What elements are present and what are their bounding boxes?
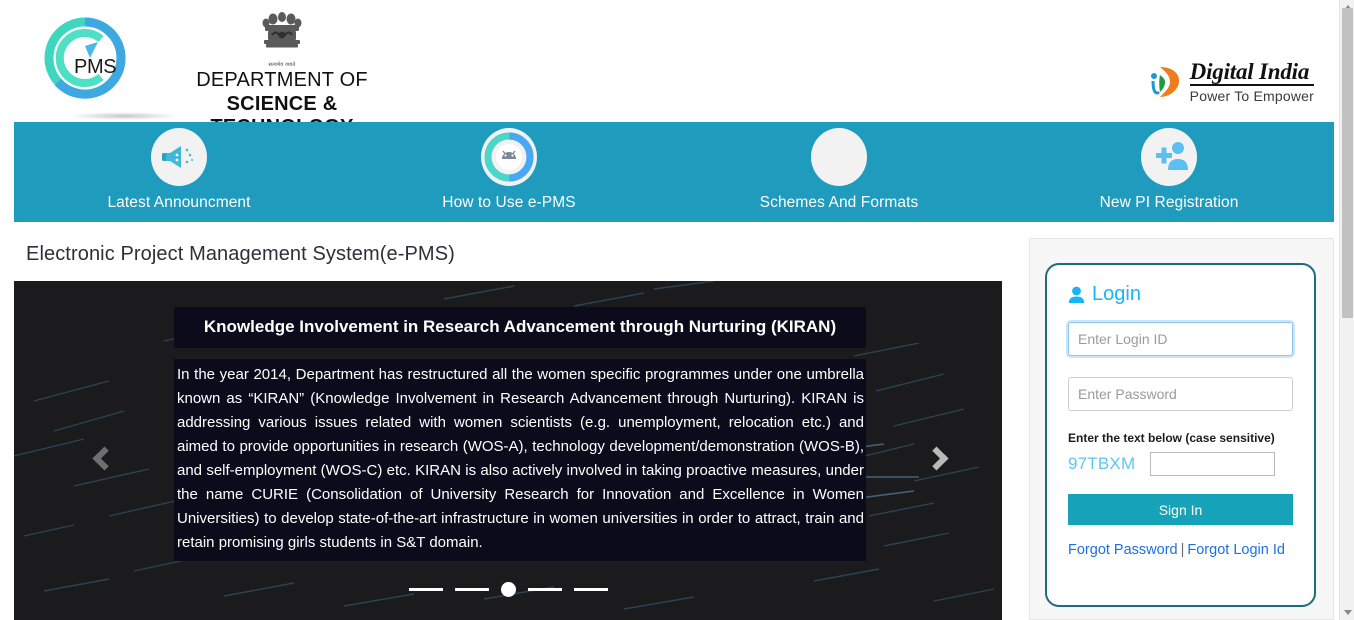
nav-label-schemes-and-formats: Schemes And Formats [760, 194, 919, 212]
captcha-input[interactable] [1150, 452, 1275, 476]
department-line-1: DEPARTMENT OF [157, 69, 407, 92]
nav-label-latest-announcement: Latest Announcment [107, 194, 250, 212]
india-emblem-icon [256, 8, 308, 64]
blank-circle-icon-wrapper [811, 128, 867, 186]
main-navbar: Latest Announcment How to Use e-PMS [14, 122, 1334, 222]
user-icon [1068, 286, 1085, 304]
chevron-left-icon [92, 446, 116, 470]
captcha-label-text: Enter the text below [1068, 431, 1185, 445]
login-card: Login Enter the text below (case sensiti… [1045, 263, 1316, 607]
carousel-slide-body: In the year 2014, Department has restruc… [174, 359, 866, 561]
login-links: Forgot Password|Forgot Login Id [1068, 542, 1293, 558]
digital-india-icon [1148, 63, 1182, 101]
carousel-next-button[interactable] [914, 436, 958, 480]
carousel-slide-title: Knowledge Involvement in Research Advanc… [174, 307, 866, 348]
add-user-icon-wrapper [1141, 128, 1197, 186]
page-title: Electronic Project Management System(e-P… [26, 243, 455, 266]
chevron-right-icon [924, 446, 948, 470]
nav-item-schemes-and-formats[interactable]: Schemes And Formats [674, 122, 1004, 222]
forgot-password-link[interactable]: Forgot Password [1068, 542, 1178, 558]
carousel-indicator-3-active[interactable] [501, 582, 516, 597]
megaphone-icon [161, 142, 197, 172]
site-header: PMS स [0, 0, 1339, 120]
page-scrollbar[interactable] [1339, 0, 1354, 620]
page-root: PMS स [0, 0, 1354, 620]
department-block: सत्यमेव जयते DEPARTMENT OF SCIENCE & TEC… [157, 8, 407, 139]
nav-label-new-pi-registration: New PI Registration [1100, 194, 1239, 212]
captcha-code: 97TBXM [1068, 454, 1135, 474]
megaphone-icon-wrapper [151, 128, 207, 186]
carousel: Knowledge Involvement in Research Advanc… [14, 281, 1002, 620]
login-title: Login [1092, 283, 1141, 306]
captcha-label: Enter the text below (case sensitive) [1068, 431, 1293, 445]
digital-india-title: Digital India [1190, 60, 1314, 86]
carousel-indicator-1[interactable] [409, 588, 443, 591]
scroll-down-arrow[interactable] [1340, 605, 1354, 620]
android-robot-icon [484, 132, 534, 182]
emblem-motto: सत्यमेव जयते [157, 62, 407, 68]
digital-india-subtitle: Power To Empower [1190, 89, 1314, 103]
epms-logo-text: PMS [74, 56, 116, 79]
nav-item-new-pi-registration[interactable]: New PI Registration [1004, 122, 1334, 222]
carousel-indicators [14, 582, 1002, 597]
epms-logo: PMS [38, 12, 136, 104]
carousel-indicator-4[interactable] [528, 588, 562, 591]
add-user-icon [1148, 138, 1190, 176]
login-id-input[interactable] [1068, 322, 1293, 356]
carousel-indicator-5[interactable] [574, 588, 608, 591]
login-header: Login [1068, 283, 1293, 306]
forgot-login-id-link[interactable]: Forgot Login Id [1187, 542, 1285, 558]
nav-item-how-to-use[interactable]: How to Use e-PMS [344, 122, 674, 222]
carousel-prev-button[interactable] [82, 436, 126, 480]
captcha-label-emphasis: (case sensitive) [1185, 431, 1274, 445]
login-panel: Login Enter the text below (case sensiti… [1029, 238, 1334, 620]
nav-label-how-to-use: How to Use e-PMS [442, 194, 575, 212]
field-spacer [1068, 356, 1293, 377]
nav-item-latest-announcement[interactable]: Latest Announcment [14, 122, 344, 222]
sign-in-button[interactable]: Sign In [1068, 494, 1293, 525]
captcha-row: 97TBXM [1068, 452, 1293, 476]
carousel-indicator-2[interactable] [455, 588, 489, 591]
link-separator: | [1181, 542, 1185, 558]
scrollbar-thumb[interactable] [1342, 8, 1353, 318]
password-input[interactable] [1068, 377, 1293, 411]
android-robot-icon-wrapper [481, 128, 537, 186]
digital-india-logo: Digital India Power To Empower [1148, 60, 1314, 103]
